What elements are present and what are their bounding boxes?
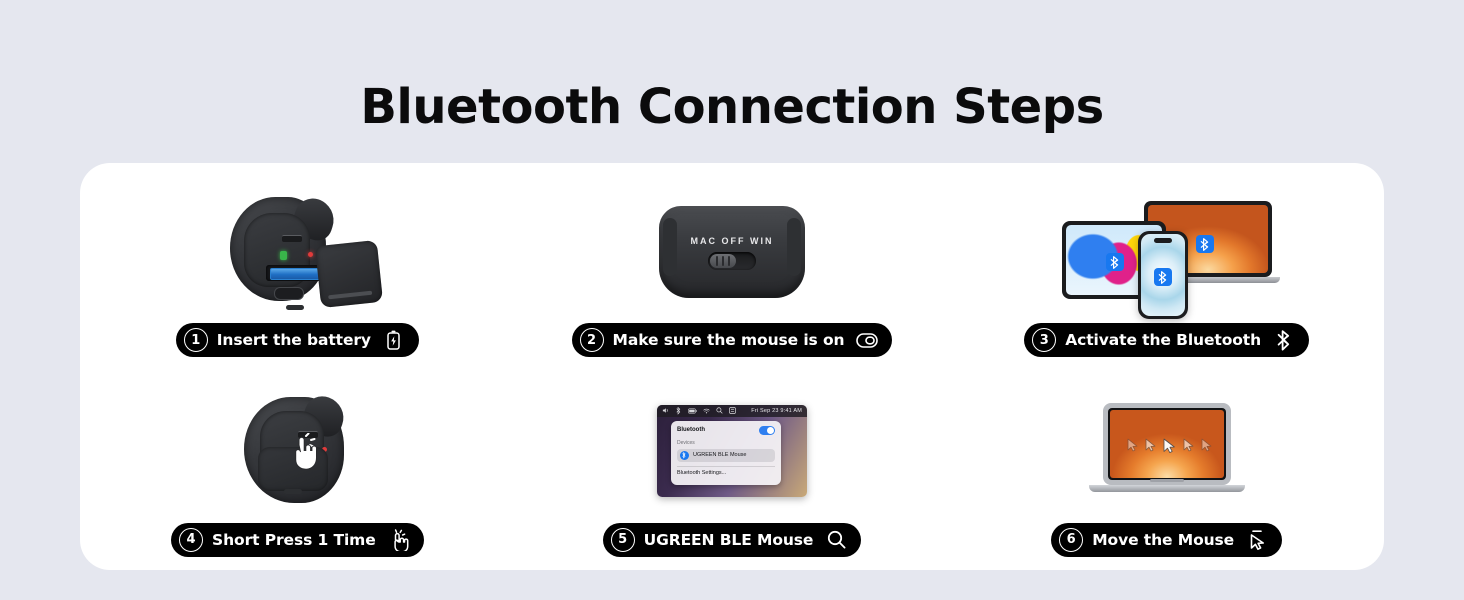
macbook-cursor-trail <box>1099 403 1235 499</box>
step-label-6: Move the Mouse <box>1092 531 1234 549</box>
volume-icon <box>662 407 669 414</box>
step-pill-5: 5 UGREEN BLE Mouse <box>603 523 862 557</box>
moving-cursor-icon <box>1246 528 1268 552</box>
step-pill-3: 3 Activate the Bluetooth <box>1024 323 1309 357</box>
menubar-clock: Fri Sep 23 9:41 AM <box>751 408 802 414</box>
bluetooth-icon <box>1273 328 1295 352</box>
power-switch-track <box>708 252 756 270</box>
step-label-2: Make sure the mouse is on <box>613 331 845 349</box>
mouse-bottom-press-button <box>238 397 356 505</box>
step-1-illustration <box>147 191 447 311</box>
wifi-icon <box>703 407 710 414</box>
battery-cover <box>315 240 383 308</box>
bluetooth-device-row[interactable]: UGREEN BLE Mouse <box>677 449 775 462</box>
step-pill-2: 2 Make sure the mouse is on <box>572 323 893 357</box>
bluetooth-badge-iphone <box>1154 268 1172 286</box>
bluetooth-menubar-icon <box>675 407 682 414</box>
step-2-illustration: MAC OFF WIN <box>582 191 882 311</box>
tap-hand-icon <box>388 528 410 552</box>
step-cell-4: 4 Short Press 1 Time <box>80 367 515 571</box>
step-number-badge-6: 6 <box>1059 528 1083 552</box>
pairing-button <box>274 287 304 300</box>
mouse-bottom-battery-compartment <box>222 197 372 305</box>
step-label-4: Short Press 1 Time <box>212 531 376 549</box>
step-label-5: UGREEN BLE Mouse <box>644 531 814 549</box>
led-green-icon <box>280 251 287 260</box>
step-3-illustration <box>1017 191 1317 311</box>
cursor-trail <box>1126 438 1222 460</box>
bluetooth-panel: Bluetooth Devices UGREEN BLE Mouse <box>671 421 781 485</box>
step-number-badge-2: 2 <box>580 328 604 352</box>
power-switch-knob <box>710 254 736 268</box>
control-center-icon <box>729 407 736 414</box>
page-title: Bluetooth Connection Steps <box>0 78 1464 136</box>
step-5-illustration: Fri Sep 23 9:41 AM Bluetooth Devices <box>582 391 882 511</box>
battery-menubar-icon <box>688 407 697 414</box>
pressing-hand-icon <box>286 433 320 477</box>
battery-charging-icon <box>383 328 405 352</box>
toggle-on-icon <box>856 328 878 352</box>
bluetooth-toggle[interactable] <box>759 426 775 435</box>
step-cell-5: Fri Sep 23 9:41 AM Bluetooth Devices <box>515 367 950 571</box>
devices-heading: Devices <box>677 440 775 446</box>
macos-menu-bar: Fri Sep 23 9:41 AM <box>657 405 807 417</box>
usb-port <box>282 235 302 242</box>
step-number-badge-3: 3 <box>1032 328 1056 352</box>
step-number-badge-5: 5 <box>611 528 635 552</box>
bluetooth-settings-link[interactable]: Bluetooth Settings... <box>677 470 775 476</box>
step-label-1: Insert the battery <box>217 331 371 349</box>
step-cell-2: MAC OFF WIN 2 Make sure the mouse is on <box>515 163 950 367</box>
device-bluetooth-icon <box>680 451 689 460</box>
step-cell-1: 1 Insert the battery <box>80 163 515 367</box>
step-pill-6: 6 Move the Mouse <box>1051 523 1282 557</box>
steps-card: 1 Insert the battery <box>80 163 1384 570</box>
step-pill-4: 4 Short Press 1 Time <box>171 523 424 557</box>
switch-labels: MAC OFF WIN <box>659 236 805 246</box>
mouse-power-switch: MAC OFF WIN <box>659 202 805 300</box>
step-6-illustration <box>1017 391 1317 511</box>
step-pill-1: 1 Insert the battery <box>176 323 419 357</box>
search-icon <box>825 528 847 552</box>
bluetooth-panel-title: Bluetooth <box>677 427 705 433</box>
step-number-badge-4: 4 <box>179 528 203 552</box>
bluetooth-badge-ipad <box>1106 253 1124 271</box>
step-4-illustration <box>147 391 447 511</box>
macos-bluetooth-menu: Fri Sep 23 9:41 AM Bluetooth Devices <box>657 405 807 497</box>
bluetooth-badge-laptop <box>1196 235 1214 253</box>
step-cell-3: 3 Activate the Bluetooth <box>949 163 1384 367</box>
spotlight-search-icon <box>716 407 723 414</box>
step-cell-6: 6 Move the Mouse <box>949 367 1384 571</box>
bluetooth-device-name: UGREEN BLE Mouse <box>693 452 747 458</box>
steps-grid: 1 Insert the battery <box>80 163 1384 570</box>
iphone-device <box>1138 231 1188 319</box>
step-label-3: Activate the Bluetooth <box>1065 331 1261 349</box>
devices-tablet-phone-laptop <box>1062 199 1272 303</box>
infographic-page: Bluetooth Connection Steps <box>0 0 1464 600</box>
step-number-badge-1: 1 <box>184 328 208 352</box>
